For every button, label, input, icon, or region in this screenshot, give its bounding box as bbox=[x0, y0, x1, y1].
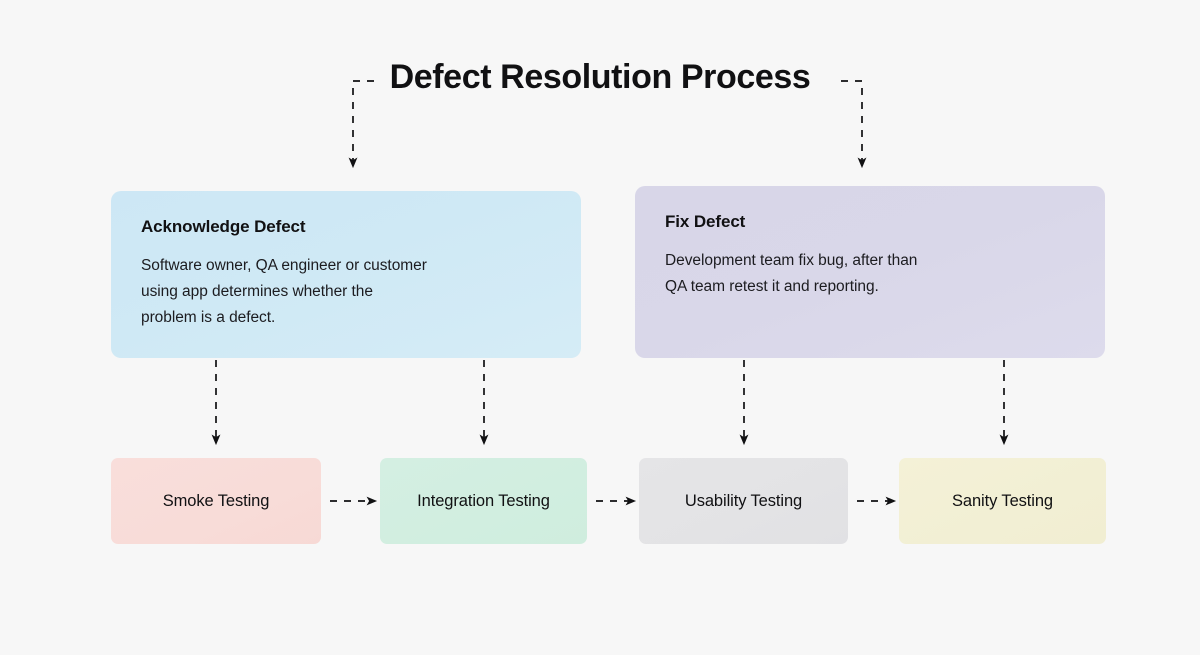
panel-fix-defect[interactable]: Fix Defect Development team fix bug, aft… bbox=[635, 186, 1105, 358]
stage-label: Smoke Testing bbox=[163, 492, 270, 511]
stage-label: Usability Testing bbox=[685, 492, 802, 511]
panel-body: Software owner, QA engineer or customer … bbox=[141, 253, 551, 331]
stage-integration-testing[interactable]: Integration Testing bbox=[380, 458, 587, 544]
panel-acknowledge-defect[interactable]: Acknowledge Defect Software owner, QA en… bbox=[111, 191, 581, 358]
panel-body: Development team fix bug, after than QA … bbox=[665, 248, 1075, 300]
panel-heading: Acknowledge Defect bbox=[141, 217, 551, 237]
panel-heading: Fix Defect bbox=[665, 212, 1075, 232]
stage-sanity-testing[interactable]: Sanity Testing bbox=[899, 458, 1106, 544]
stage-smoke-testing[interactable]: Smoke Testing bbox=[111, 458, 321, 544]
page-title: Defect Resolution Process bbox=[0, 58, 1200, 97]
diagram-canvas: Defect Resolution Process bbox=[0, 0, 1200, 655]
stage-label: Sanity Testing bbox=[952, 492, 1053, 511]
stage-label: Integration Testing bbox=[417, 492, 550, 511]
stage-usability-testing[interactable]: Usability Testing bbox=[639, 458, 848, 544]
